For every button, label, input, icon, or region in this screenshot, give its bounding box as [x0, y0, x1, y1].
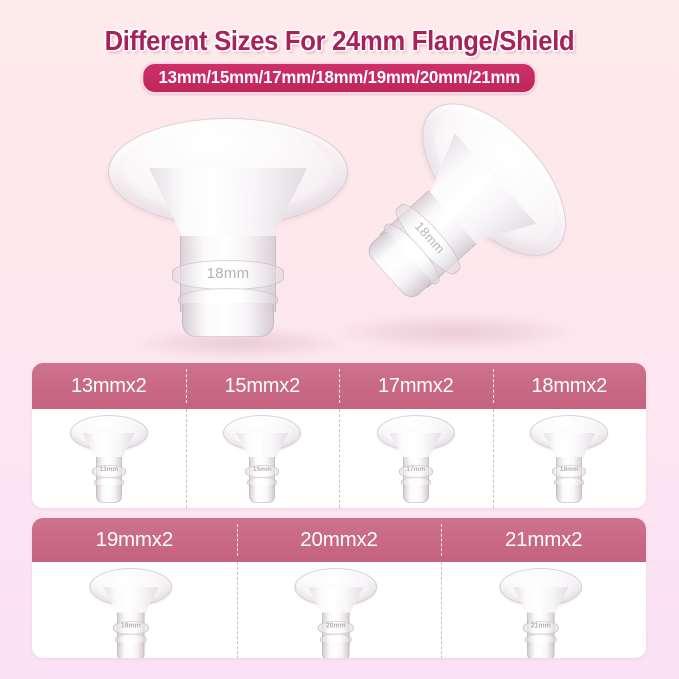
flange-cone [513, 587, 568, 615]
flange-cone [390, 433, 442, 459]
flange-base [403, 485, 429, 503]
flange-cone [236, 433, 288, 459]
size-cell-image-15mm: 15mm [186, 409, 340, 508]
flange-embossed-size-label: 18mm [180, 265, 276, 282]
flange-insert-thumbnail: 18mm [526, 415, 612, 507]
size-cell-header-17mm: 17mmx2 [339, 363, 493, 409]
flange-base [96, 485, 122, 503]
flange-embossed-size-label: 21mm [525, 622, 557, 629]
size-cell-header-15mm: 15mmx2 [186, 363, 340, 409]
flange-base [322, 642, 350, 658]
size-cell-header-19mm: 19mmx2 [32, 518, 237, 562]
size-cell-image-19mm: 19mm [32, 562, 237, 658]
size-cell-header-label: 20mmx2 [300, 528, 377, 552]
flange-embossed-size-label: 15mm [247, 466, 277, 473]
flange-embossed-size-label: 19mm [115, 622, 147, 629]
flange-embossed-size-label: 13mm [94, 466, 124, 473]
flange-cone [149, 168, 307, 246]
size-cell-header-label: 15mmx2 [225, 375, 301, 398]
product-infographic: Different Sizes For 24mm Flange/Shield 1… [0, 0, 679, 679]
flange-insert-upright: 18mm [108, 118, 348, 344]
size-grid-row-1-images: 13mm 15mm [32, 409, 646, 508]
size-cell-header-label: 13mmx2 [71, 375, 147, 398]
size-cell-header-21mm: 21mmx2 [441, 518, 646, 562]
flange-embossed-size-label: 18mm [554, 466, 584, 473]
flange-base [527, 642, 555, 658]
flange-insert-thumbnail: 21mm [495, 568, 593, 658]
size-grid-row-2-headers: 19mmx2 20mmx2 21mmx2 [32, 518, 646, 562]
header-section: Different Sizes For 24mm Flange/Shield 1… [0, 0, 679, 100]
size-cell-header-18mm: 18mmx2 [493, 363, 647, 409]
size-cell-image-13mm: 13mm [32, 409, 186, 508]
flange-insert-thumbnail: 15mm [219, 415, 305, 507]
size-cell-header-20mm: 20mmx2 [237, 518, 442, 562]
subtitle-row: 13mm/15mm/17mm/18mm/19mm/20mm/21mm [0, 62, 679, 94]
page-title: Different Sizes For 24mm Flange/Shield [24, 25, 655, 57]
flange-insert-thumbnail: 19mm [86, 568, 184, 658]
flange-cone [543, 433, 595, 459]
size-cell-image-18mm: 18mm [493, 409, 647, 508]
size-cell-image-17mm: 17mm [339, 409, 493, 508]
flange-base [117, 642, 145, 658]
flange-insert-thumbnail: 17mm [373, 415, 459, 507]
size-cell-image-20mm: 20mm [237, 562, 442, 658]
flange-base [249, 485, 275, 503]
size-cell-header-label: 17mmx2 [378, 375, 454, 398]
size-grid-row-1: 13mmx2 15mmx2 17mmx2 18mmx2 [32, 363, 646, 508]
flange-cone [104, 587, 159, 615]
flange-base [182, 303, 274, 337]
size-cell-header-13mm: 13mmx2 [32, 363, 186, 409]
hero-product-image: 18mm 18mm [0, 100, 679, 355]
flange-cone [83, 433, 135, 459]
flange-base [556, 485, 582, 503]
flange-cone [308, 587, 363, 615]
size-cell-header-label: 21mmx2 [505, 528, 582, 552]
size-cell-image-21mm: 21mm [441, 562, 646, 658]
flange-embossed-size-label: 20mm [320, 622, 352, 629]
size-cell-header-label: 19mmx2 [96, 528, 173, 552]
size-grid-row-2: 19mmx2 20mmx2 21mmx2 19mm [32, 518, 646, 658]
size-grid-row-1-headers: 13mmx2 15mmx2 17mmx2 18mmx2 [32, 363, 646, 409]
size-cell-header-label: 18mmx2 [532, 375, 608, 398]
flange-embossed-size-label: 17mm [401, 466, 431, 473]
flange-insert-thumbnail: 13mm [66, 415, 152, 507]
size-grid-row-2-images: 19mm 20mm [32, 562, 646, 658]
flange-insert-thumbnail: 20mm [290, 568, 388, 658]
